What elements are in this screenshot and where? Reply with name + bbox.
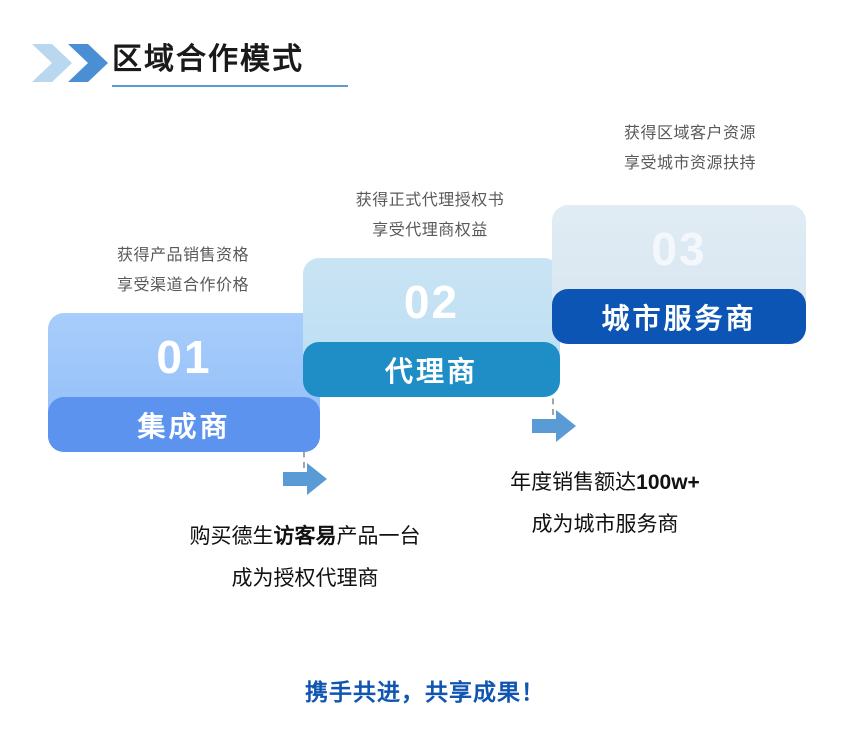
step-role-band: 代理商 [303,342,560,397]
caption-strong: 100w+ [636,471,700,494]
chevron-dark-icon [66,42,110,84]
step-role-band: 集成商 [48,397,320,452]
step-number: 03 [552,221,806,277]
step-role-band: 城市服务商 [552,289,806,344]
benefit-line: 获得正式代理授权书 [335,186,525,216]
benefit-line: 享受代理商权益 [335,216,525,246]
page-title: 区域合作模式 [112,40,304,80]
caption-strong: 访客易 [274,525,337,548]
caption-line-2: 成为城市服务商 [435,504,775,546]
transition-caption-2: 年度销售额达100w+ 成为城市服务商 [435,462,775,546]
caption-line-1: 年度销售额达100w+ [435,462,775,504]
benefit-line: 享受城市资源扶持 [595,149,785,179]
step-role-label: 集成商 [137,405,230,445]
caption-prefix: 购买德生 [190,525,274,548]
footer-slogan: 携手共进，共享成果！ [0,673,850,707]
step-card-02[interactable]: 02 代理商 [303,258,560,397]
caption-suffix: 产品一台 [337,525,421,548]
title-underline [112,85,348,87]
caption-line-1: 购买德生访客易产品一台 [135,516,475,558]
step-number: 01 [48,329,320,385]
transition-caption-1: 购买德生访客易产品一台 成为授权代理商 [135,516,475,600]
arrow-right-icon [532,410,576,442]
step-role-label: 城市服务商 [601,297,756,337]
double-chevron-right-icon [30,42,112,84]
step-number: 02 [303,274,560,330]
step-card-01[interactable]: 01 集成商 [48,313,320,452]
benefits-note-step-1: 获得产品销售资格 享受渠道合作价格 [88,241,278,301]
benefit-line: 享受渠道合作价格 [88,271,278,301]
caption-line-2: 成为授权代理商 [135,558,475,600]
benefit-line: 获得产品销售资格 [88,241,278,271]
benefits-note-step-2: 获得正式代理授权书 享受代理商权益 [335,186,525,246]
step-card-03[interactable]: 03 城市服务商 [552,205,806,344]
benefit-line: 获得区域客户资源 [595,119,785,149]
caption-prefix: 年度销售额达 [510,471,636,494]
step-role-label: 代理商 [385,350,478,390]
infographic-canvas: 区域合作模式 获得产品销售资格 享受渠道合作价格 获得正式代理授权书 享受代理商… [0,0,850,737]
benefits-note-step-3: 获得区域客户资源 享受城市资源扶持 [595,119,785,179]
arrow-right-icon [283,463,327,495]
